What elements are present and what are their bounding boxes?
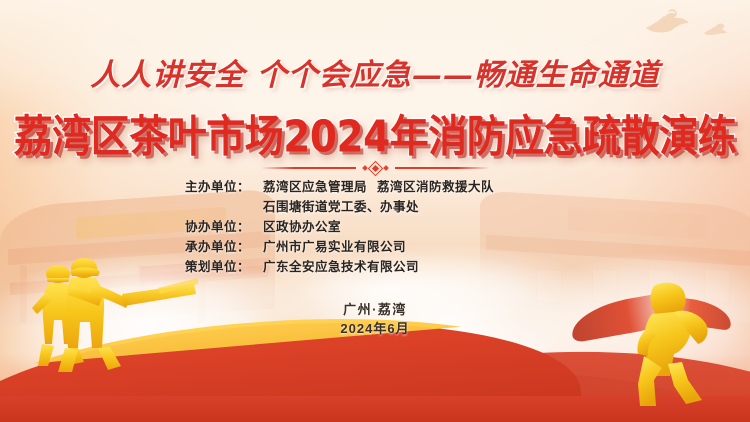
organizer-label-coorganizer: 协办单位：: [185, 218, 263, 236]
divider-diamond-ornament: [363, 163, 388, 174]
organizer-label-planner: 策划单位：: [185, 258, 263, 276]
organizer-row-coorganizer: 协办单位： 区政协办公室: [185, 218, 565, 236]
poster-footer: 广州·荔湾 2024年6月: [0, 300, 750, 339]
ornament-divider: [240, 159, 510, 177]
poster-content: 人人讲安全 个个会应急——畅通生命通道 荔湾区茶叶市场2024年消防应急疏散演练…: [0, 0, 750, 422]
footer-place: 广州·荔湾: [0, 300, 750, 319]
organizer-block: 主办单位： 荔湾区应急管理局荔湾区消防救援大队 石围塘街道党工委、办事处 协办单…: [0, 178, 750, 278]
organizer-value-coorganizer: 区政协办公室: [263, 218, 341, 236]
organizer-value-host-primary: 荔湾区应急管理局: [263, 180, 367, 194]
organizer-value-host-line2: 石围塘街道党工委、办事处: [263, 198, 419, 216]
poster-slogan: 人人讲安全 个个会应急——畅通生命通道: [0, 50, 750, 94]
organizer-label-host: 主办单位：: [185, 178, 263, 196]
organizer-value-planner: 广东全安应急技术有限公司: [263, 258, 419, 276]
organizer-value-undertaker: 广州市广易实业有限公司: [263, 238, 406, 256]
organizer-row-host: 主办单位： 荔湾区应急管理局荔湾区消防救援大队: [185, 178, 565, 196]
organizer-label-undertaker: 承办单位：: [185, 238, 263, 256]
divider-line-left: [261, 167, 356, 169]
organizer-row-host-line2: 石围塘街道党工委、办事处: [185, 198, 565, 216]
organizer-value-host-secondary: 荔湾区消防救援大队: [377, 180, 494, 194]
poster-canvas: 人人讲安全 个个会应急——畅通生命通道 荔湾区茶叶市场2024年消防应急疏散演练…: [0, 0, 750, 422]
poster-main-title: 荔湾区茶叶市场2024年消防应急疏散演练: [0, 102, 750, 165]
divider-line-right: [395, 167, 490, 169]
footer-date: 2024年6月: [0, 319, 750, 339]
organizer-row-undertaker: 承办单位： 广州市广易实业有限公司: [185, 238, 565, 256]
organizer-value-host: 荔湾区应急管理局荔湾区消防救援大队: [263, 178, 494, 196]
organizer-row-planner: 策划单位： 广东全安应急技术有限公司: [185, 258, 565, 276]
